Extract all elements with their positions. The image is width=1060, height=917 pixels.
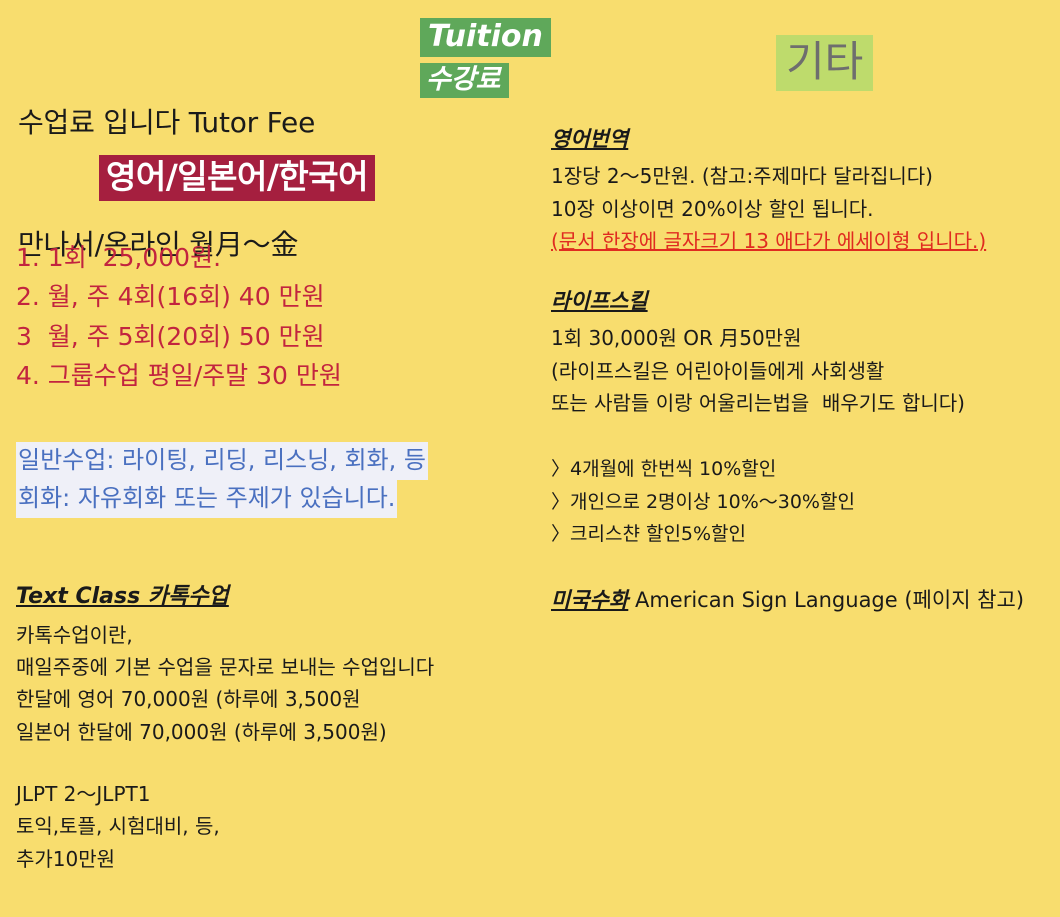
price-item: 1. 1회 25,000원. bbox=[16, 238, 342, 277]
exam-prep-line: 토익,토플, 시험대비, 등, bbox=[16, 810, 220, 842]
sign-language-line: 미국수화 American Sign Language (페이지 참고) bbox=[551, 586, 1024, 614]
highlight-line: 회화: 자유회화 또는 주제가 있습니다. bbox=[16, 480, 397, 518]
discount-item: 〉개인으로 2명이상 10%～30%할인 bbox=[551, 486, 855, 519]
text-class-line: 한달에 영어 70,000원 (하루에 3,500원 bbox=[16, 683, 434, 715]
poster-page: 수업료 입니다 Tutor Fee 만나서/온라인 월月～金 Tuition 수… bbox=[0, 0, 1060, 917]
text-class-line: 매일주중에 기본 수업을 문자로 보내는 수업입니다 bbox=[16, 651, 434, 683]
price-item: 2. 월, 주 4회(16회) 40 만원 bbox=[16, 277, 342, 316]
discount-item: 〉크리스챤 할인5%할인 bbox=[551, 518, 855, 551]
highlight-line: 일반수업: 라이팅, 리딩, 리스닝, 회화, 등 bbox=[16, 442, 428, 480]
translation-line: 10장 이상이면 20%이상 할인 됩니다. bbox=[551, 193, 986, 225]
sign-language-section: 미국수화 American Sign Language (페이지 참고) bbox=[551, 586, 1024, 614]
sign-language-heading: 미국수화 bbox=[551, 588, 628, 612]
lifeskill-section: 라이프스킬 1회 30,000원 OR 月50만원 (라이프스킬은 어린아이들에… bbox=[551, 288, 965, 419]
text-class-heading: Text Class 카톡수업 bbox=[16, 583, 434, 612]
lifeskill-line: 1회 30,000원 OR 月50만원 bbox=[551, 322, 965, 354]
translation-line: 1장당 2～5만원. (참고:주제마다 달라집니다) bbox=[551, 160, 986, 192]
text-class-line: 일본어 한달에 70,000원 (하루에 3,500원) bbox=[16, 716, 434, 748]
lifeskill-line: 또는 사람들 이랑 어울리는법을 배우기도 합니다) bbox=[551, 387, 965, 419]
translation-heading: 영어번역 bbox=[551, 126, 986, 153]
right-column: 영어번역 1장당 2～5만원. (참고:주제마다 달라집니다) 10장 이상이면… bbox=[551, 0, 1060, 917]
price-item: 3 월, 주 5회(20회) 50 만원 bbox=[16, 317, 342, 356]
exam-prep-line: JLPT 2～JLPT1 bbox=[16, 778, 220, 810]
price-item: 4. 그룹수업 평일/주말 30 만원 bbox=[16, 356, 342, 395]
lifeskill-line: (라이프스킬은 어린아이들에게 사회생활 bbox=[551, 355, 965, 387]
exam-prep-line: 추가10만원 bbox=[16, 843, 220, 875]
exam-prep-section: JLPT 2～JLPT1 토익,토플, 시험대비, 등, 추가10만원 bbox=[16, 778, 220, 875]
left-column: 영어/일본어/한국어 1. 1회 25,000원. 2. 월, 주 4회(16회… bbox=[0, 0, 540, 917]
price-list: 1. 1회 25,000원. 2. 월, 주 4회(16회) 40 만원 3 월… bbox=[16, 238, 342, 395]
discount-item: 〉4개월에 한번씩 10%할인 bbox=[551, 453, 855, 486]
class-content-highlight: 일반수업: 라이팅, 리딩, 리스닝, 회화, 등 회화: 자유회화 또는 주제… bbox=[16, 442, 428, 518]
language-heading: 영어/일본어/한국어 bbox=[99, 155, 375, 201]
translation-section: 영어번역 1장당 2～5만원. (참고:주제마다 달라집니다) 10장 이상이면… bbox=[551, 126, 986, 257]
sign-language-rest: American Sign Language (페이지 참고) bbox=[628, 588, 1024, 612]
translation-note-highlighted: (문서 한장에 글자크기 13 애다가 에세이형 입니다.) bbox=[551, 225, 986, 257]
lifeskill-heading: 라이프스킬 bbox=[551, 288, 965, 315]
text-class-section: Text Class 카톡수업 카톡수업이란, 매일주중에 기본 수업을 문자로… bbox=[16, 583, 434, 748]
text-class-line: 카톡수업이란, bbox=[16, 619, 434, 651]
discount-list: 〉4개월에 한번씩 10%할인 〉개인으로 2명이상 10%～30%할인 〉크리… bbox=[551, 453, 855, 551]
